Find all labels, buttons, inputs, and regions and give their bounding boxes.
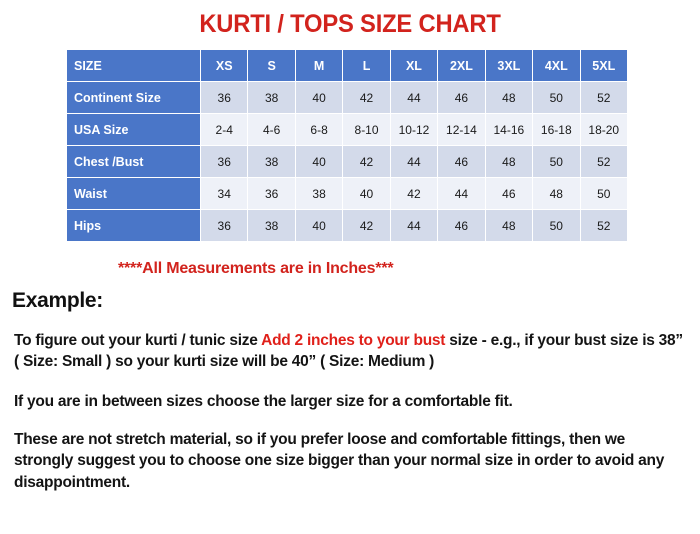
cell-usa-5xl: 18-20 [581,114,628,145]
cell-usa-3xl: 14-16 [486,114,532,145]
cell-waist-3xl: 46 [486,178,532,209]
cell-hips-m: 40 [296,210,342,241]
cell-waist-s: 36 [248,178,294,209]
cell-chest-s: 38 [248,146,294,177]
row-header-continent-size: Continent Size [67,82,200,113]
cell-hips-l: 42 [343,210,389,241]
cell-hips-3xl: 48 [486,210,532,241]
table-row: Hips 36 38 40 42 44 46 48 50 52 [67,210,627,241]
cell-usa-xl: 10-12 [391,114,437,145]
column-header-l: L [343,50,389,81]
cell-chest-xs: 36 [201,146,247,177]
table-row: Waist 34 36 38 40 42 44 46 48 50 [67,178,627,209]
cell-continent-l: 42 [343,82,389,113]
cell-continent-4xl: 50 [533,82,579,113]
cell-usa-s: 4-6 [248,114,294,145]
column-header-4xl: 4XL [533,50,579,81]
example-paragraph-2: If you are in between sizes choose the l… [14,391,686,412]
cell-chest-xl: 44 [391,146,437,177]
column-header-xs: XS [201,50,247,81]
cell-continent-2xl: 46 [438,82,484,113]
row-header-usa-size: USA Size [67,114,200,145]
cell-waist-l: 40 [343,178,389,209]
measurements-units-note: ****All Measurements are in Inches*** [0,260,700,278]
cell-usa-4xl: 16-18 [533,114,579,145]
example-paragraph-1: To figure out your kurti / tunic size Ad… [14,330,686,373]
row-header-chest-bust: Chest /Bust [67,146,200,177]
cell-waist-5xl: 50 [581,178,628,209]
example-paragraph-1-part1: To figure out your kurti / tunic size [14,332,261,349]
cell-continent-m: 40 [296,82,342,113]
size-chart-page: { "title": "KURTI / TOPS SIZE CHART", "c… [0,11,700,534]
cell-chest-l: 42 [343,146,389,177]
column-header-xl: XL [391,50,437,81]
cell-waist-4xl: 48 [533,178,579,209]
cell-usa-xs: 2-4 [201,114,247,145]
cell-waist-m: 38 [296,178,342,209]
column-header-2xl: 2XL [438,50,484,81]
cell-continent-3xl: 48 [486,82,532,113]
cell-hips-xs: 36 [201,210,247,241]
cell-hips-xl: 44 [391,210,437,241]
cell-usa-2xl: 12-14 [438,114,484,145]
column-header-s: S [248,50,294,81]
column-header-3xl: 3XL [486,50,532,81]
cell-waist-xs: 34 [201,178,247,209]
cell-continent-s: 38 [248,82,294,113]
page-title: KURTI / TOPS SIZE CHART [18,11,683,37]
cell-hips-s: 38 [248,210,294,241]
example-heading: Example: [12,289,700,312]
example-paragraph-1-highlight: Add 2 inches to your bust [261,332,445,349]
cell-chest-2xl: 46 [438,146,484,177]
row-header-hips: Hips [67,210,200,241]
table-row: Chest /Bust 36 38 40 42 44 46 48 50 52 [67,146,627,177]
cell-waist-xl: 42 [391,178,437,209]
cell-chest-5xl: 52 [581,146,628,177]
table-header: SIZE XS S M L XL 2XL 3XL 4XL 5XL [67,50,627,81]
size-chart-table-container: SIZE XS S M L XL 2XL 3XL 4XL 5XL Contine… [66,49,628,242]
column-header-5xl: 5XL [581,50,628,81]
table-body: Continent Size 36 38 40 42 44 46 48 50 5… [67,82,627,241]
cell-waist-2xl: 44 [438,178,484,209]
table-header-row: SIZE XS S M L XL 2XL 3XL 4XL 5XL [67,50,627,81]
table-row: Continent Size 36 38 40 42 44 46 48 50 5… [67,82,627,113]
example-paragraph-3: These are not stretch material, so if yo… [14,429,686,493]
column-header-m: M [296,50,342,81]
cell-chest-3xl: 48 [486,146,532,177]
cell-continent-5xl: 52 [581,82,628,113]
cell-continent-xl: 44 [391,82,437,113]
row-header-waist: Waist [67,178,200,209]
cell-usa-m: 6-8 [296,114,342,145]
cell-continent-xs: 36 [201,82,247,113]
cell-chest-m: 40 [296,146,342,177]
cell-hips-4xl: 50 [533,210,579,241]
column-header-size: SIZE [67,50,200,81]
table-row: USA Size 2-4 4-6 6-8 8-10 10-12 12-14 14… [67,114,627,145]
cell-hips-5xl: 52 [581,210,628,241]
cell-hips-2xl: 46 [438,210,484,241]
cell-chest-4xl: 50 [533,146,579,177]
size-chart-table: SIZE XS S M L XL 2XL 3XL 4XL 5XL Contine… [66,49,628,242]
cell-usa-l: 8-10 [343,114,389,145]
